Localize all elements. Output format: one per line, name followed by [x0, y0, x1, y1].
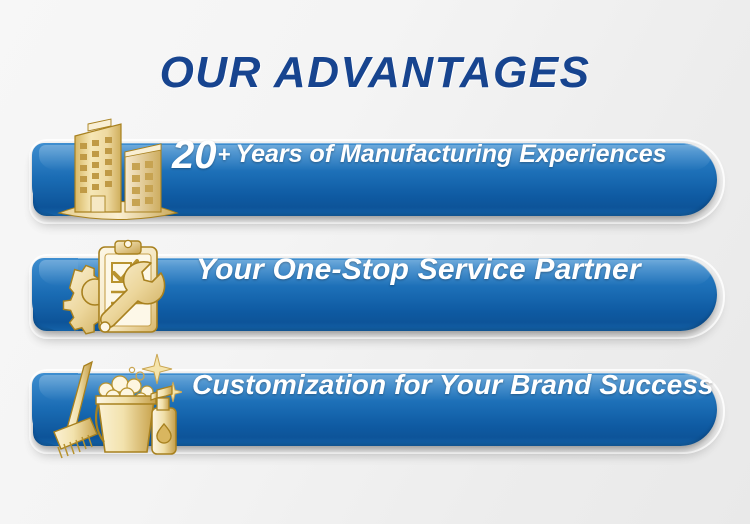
- advantage-row-experience[interactable]: 20+Years of Manufacturing Experiences: [0, 118, 750, 236]
- advantage-row-service[interactable]: Your One-Stop Service Partner: [0, 233, 750, 351]
- page-title: OUR ADVANTAGES: [0, 48, 750, 98]
- sparkle-large: [142, 354, 172, 384]
- banner-text: Your One-Stop Service Partner: [196, 253, 641, 287]
- banner-label-experience: 20+Years of Manufacturing Experiences: [172, 118, 667, 191]
- banner-label-service: Your One-Stop Service Partner: [196, 233, 641, 306]
- advantage-row-customization[interactable]: Customization for Your Brand Success: [0, 348, 750, 466]
- plus-superscript: +: [218, 144, 231, 166]
- office-building-icon: [55, 114, 181, 232]
- advantages-page: OUR ADVANTAGES 20+Years of Manufacturing…: [0, 0, 750, 524]
- banner-label-customization: Customization for Your Brand Success: [192, 348, 714, 421]
- gear-clipboard-wrench-icon: [58, 235, 182, 347]
- cleaning-supplies-icon: [48, 348, 182, 464]
- banner-text: Years of Manufacturing Experiences: [235, 140, 666, 169]
- banner-text: Customization for Your Brand Success: [192, 369, 714, 401]
